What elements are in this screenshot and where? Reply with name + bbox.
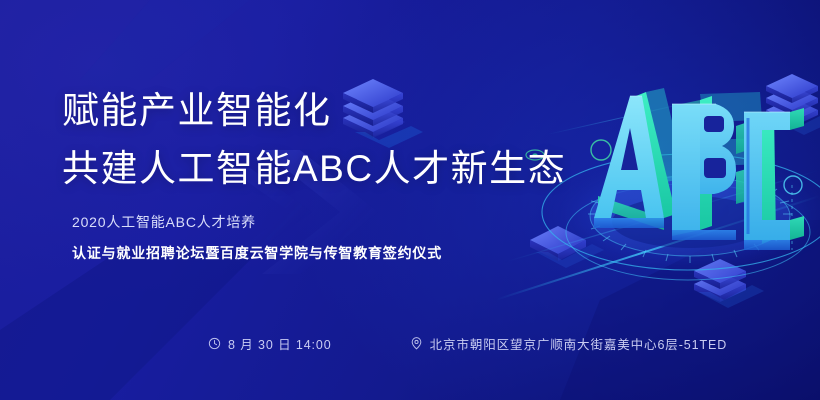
poster-subtitle-line1: 2020人工智能ABC人才培养 [72,212,256,232]
event-date-item: 8 月 30 日 14:00 [208,334,332,353]
poster-text-content: 赋能产业智能化 共建人工智能ABC人才新生态 2020人工智能ABC人才培养 认… [0,0,820,400]
poster-title-line1: 赋能产业智能化 [62,88,332,134]
event-poster: 赋能产业智能化 共建人工智能ABC人才新生态 2020人工智能ABC人才培养 认… [0,0,820,400]
event-location-text: 北京市朝阳区望京广顺南大街嘉美中心6层-51TED [430,334,728,353]
event-location-item: 北京市朝阳区望京广顺南大街嘉美中心6层-51TED [410,334,728,353]
clock-icon [208,337,221,350]
poster-title-line2: 共建人工智能ABC人才新生态 [62,146,566,192]
poster-meta-bar: 8 月 30 日 14:00 北京市朝阳区望京广顺南大街嘉美中心6层-51TED [208,334,727,353]
poster-subtitle-line2: 认证与就业招聘论坛暨百度云智学院与传智教育签约仪式 [72,243,442,263]
event-date-text: 8 月 30 日 14:00 [228,334,332,353]
map-pin-icon [410,337,423,350]
